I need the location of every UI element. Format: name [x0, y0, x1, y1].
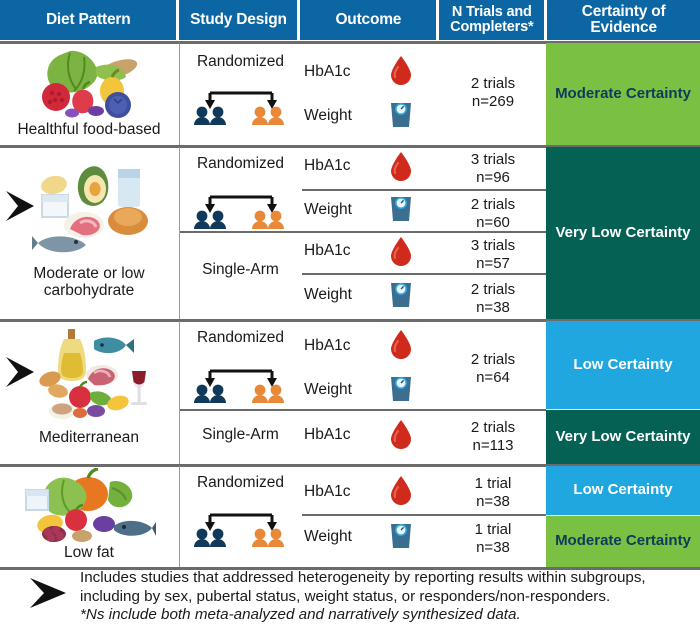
n-completers: n=38: [441, 299, 545, 317]
mediterranean-foods-illustration: [32, 327, 158, 423]
header-label: Outcome: [335, 12, 401, 28]
outcome-label: HbA1c: [304, 483, 351, 501]
randomized-allocation-icon: [190, 499, 292, 547]
n-trials-cell: 3 trials n=57: [441, 237, 545, 272]
study-design-label: Randomized: [181, 329, 300, 347]
n-trials-count: 3 trials: [441, 151, 545, 169]
certainty-badge-very-low: Very Low Certainty: [546, 410, 700, 464]
blood-drop-icon: [389, 475, 413, 505]
certainty-badge-low: Low Certainty: [546, 321, 700, 409]
study-design-label: Single-Arm: [181, 261, 300, 279]
diet-cell-3: Mediterranean: [0, 321, 178, 464]
weight-scale-icon: [388, 193, 414, 223]
low-carb-foods-illustration: [32, 159, 158, 259]
n-trials-count: 3 trials: [441, 237, 545, 255]
weight-scale-icon: [388, 520, 414, 550]
blood-drop-icon: [389, 151, 413, 181]
n-trials-count: 2 trials: [441, 281, 545, 299]
n-trials-cell: 2 trials n=60: [441, 196, 545, 231]
study-design-label: Single-Arm: [181, 426, 300, 444]
table-body: Healthful food-based Randomized HbA1c We…: [0, 41, 700, 568]
certainty-badge-moderate: Moderate Certainty: [546, 516, 700, 567]
column-divider: [179, 43, 181, 145]
table-header-row: Diet Pattern Study Design Outcome N Tria…: [0, 0, 700, 40]
column-divider: [179, 466, 181, 567]
n-trials-cell: 2 trials n=269: [441, 75, 545, 110]
n-completers: n=38: [441, 539, 545, 557]
n-completers: n=96: [441, 169, 545, 187]
outcome-label: Weight: [304, 286, 352, 304]
n-trials-cell: 2 trials n=38: [441, 281, 545, 316]
outcome-label: Weight: [304, 381, 352, 399]
outcome-sub-divider: [302, 189, 546, 191]
design-sub-divider: [180, 409, 546, 411]
n-trials-count: 2 trials: [441, 351, 545, 369]
diet-cell-4: Low fat: [0, 466, 178, 567]
outcome-label: HbA1c: [304, 337, 351, 355]
n-trials-count: 1 trial: [441, 475, 545, 493]
header-label: N Trials and Completers*: [439, 5, 544, 35]
diet-cell-2: Moderate or low carbohydrate: [0, 147, 178, 319]
outcome-label: Weight: [304, 107, 352, 125]
outcome-label: HbA1c: [304, 157, 351, 175]
n-trials-count: 2 trials: [441, 419, 545, 437]
n-trials-cell: 1 trial n=38: [441, 521, 545, 556]
arrow-marker-icon: [28, 577, 72, 609]
diet-label: Mediterranean: [0, 429, 178, 446]
n-trials-cell: 2 trials n=64: [441, 351, 545, 386]
randomized-allocation-icon: [190, 181, 292, 229]
diet-label: Low fat: [0, 544, 178, 561]
certainty-badge-very-low: Very Low Certainty: [546, 147, 700, 319]
outcome-sub-divider: [302, 514, 546, 516]
outcome-label: HbA1c: [304, 242, 351, 260]
n-completers: n=38: [441, 493, 545, 511]
n-completers: n=57: [441, 255, 545, 273]
n-trials-count: 1 trial: [441, 521, 545, 539]
evidence-summary-figure: Diet Pattern Study Design Outcome N Tria…: [0, 0, 700, 617]
n-completers: n=60: [441, 214, 545, 232]
header-cell-diet-pattern: Diet Pattern: [0, 0, 176, 40]
weight-scale-icon: [388, 279, 414, 309]
header-label: Diet Pattern: [46, 12, 131, 28]
blood-drop-icon: [389, 236, 413, 266]
n-completers: n=269: [441, 93, 545, 111]
n-trials-count: 2 trials: [441, 75, 545, 93]
footnote-line-3: *Ns include both meta-analyzed and narra…: [80, 606, 695, 625]
weight-scale-icon: [388, 99, 414, 129]
certainty-badge-low: Low Certainty: [546, 466, 700, 515]
n-completers: n=113: [441, 437, 545, 455]
n-trials-count: 2 trials: [441, 196, 545, 214]
randomized-allocation-icon: [190, 355, 292, 403]
diet-label: Healthful food-based: [0, 121, 178, 138]
study-design-label: Randomized: [181, 155, 300, 173]
footnote-line-2: including by sex, pubertal status, weigh…: [80, 588, 695, 607]
outcome-label: Weight: [304, 528, 352, 546]
certainty-badge-moderate: Moderate Certainty: [546, 43, 700, 145]
outcome-label: Weight: [304, 201, 352, 219]
blood-drop-icon: [389, 419, 413, 449]
header-cell-n-trials: N Trials and Completers*: [439, 0, 544, 40]
outcome-label: HbA1c: [304, 63, 351, 81]
diet-cell-1: Healthful food-based: [0, 43, 178, 145]
header-cell-certainty: Certainty of Evidence: [547, 0, 700, 40]
footnote-line-1: Includes studies that addressed heteroge…: [80, 569, 695, 588]
weight-scale-icon: [388, 373, 414, 403]
study-design-label: Randomized: [181, 474, 300, 492]
figure-footnote: Includes studies that addressed heteroge…: [0, 570, 700, 617]
n-completers: n=64: [441, 369, 545, 387]
mixed-produce-illustration: [26, 47, 154, 121]
randomized-allocation-icon: [190, 77, 292, 125]
n-trials-cell: 3 trials n=96: [441, 151, 545, 186]
header-cell-study-design: Study Design: [179, 0, 297, 40]
column-divider: [179, 321, 181, 464]
header-label: Study Design: [190, 12, 287, 28]
low-fat-foods-illustration: [24, 468, 156, 544]
study-design-label: Randomized: [181, 53, 300, 71]
blood-drop-icon: [389, 329, 413, 359]
diet-label: Moderate or low carbohydrate: [0, 265, 178, 300]
outcome-label: HbA1c: [304, 426, 351, 444]
header-label: Certainty of Evidence: [547, 4, 700, 36]
n-trials-cell: 1 trial n=38: [441, 475, 545, 510]
outcome-sub-divider: [302, 273, 546, 275]
n-trials-cell: 2 trials n=113: [441, 419, 545, 454]
header-cell-outcome: Outcome: [300, 0, 436, 40]
blood-drop-icon: [389, 55, 413, 85]
